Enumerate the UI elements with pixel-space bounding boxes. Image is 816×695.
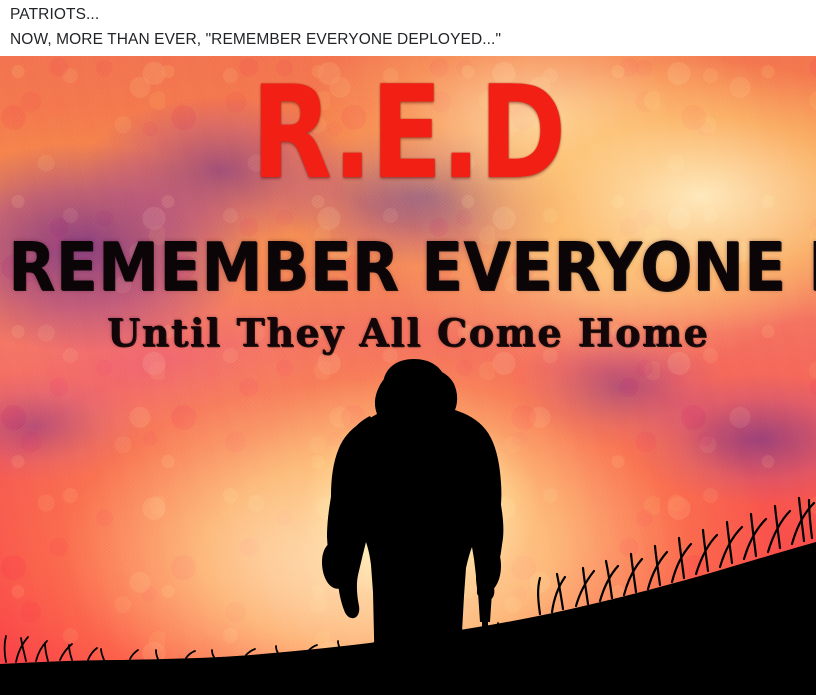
post-text-block: PATRIOTS... NOW, MORE THAN EVER, "REMEMB… [0,0,816,56]
post-line-1: PATRIOTS... [10,2,816,27]
red-poster-image[interactable]: R.E.D REMEMBER EVERYONE DEPLOYED Until T… [0,56,816,695]
sunset-sky [0,56,816,695]
post-line-2: NOW, MORE THAN EVER, "REMEMBER EVERYONE … [10,27,816,52]
